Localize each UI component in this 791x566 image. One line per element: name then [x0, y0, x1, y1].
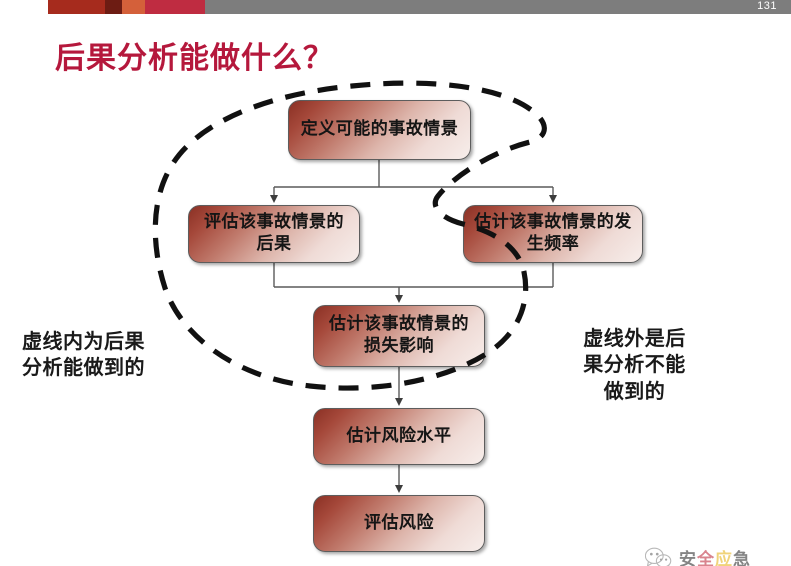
- wechat-watermark: 安全应急: [645, 545, 751, 566]
- flow-box-risk-label: 评估风险: [364, 513, 434, 535]
- flow-box-assess-label: 评估该事故情景的后果: [199, 212, 349, 256]
- flow-box-evaluate-risk[interactable]: 评估风险: [313, 495, 485, 552]
- topbar-segment-gap: [0, 0, 48, 14]
- top-decor-bar: 131: [0, 0, 791, 14]
- annotation-right-line-2: 果分析不能: [552, 351, 717, 377]
- wechat-icon: [645, 546, 672, 566]
- flow-box-loss-label: 估计该事故情景的损失影响: [324, 314, 474, 358]
- watermark-char-3: 应: [715, 550, 733, 566]
- annotation-left-line-1: 虚线内为后果: [22, 328, 192, 354]
- flow-box-assess-consequence[interactable]: 评估该事故情景的后果: [188, 205, 360, 263]
- flow-box-estimate-loss[interactable]: 估计该事故情景的损失影响: [313, 305, 485, 367]
- watermark-char-4: 急: [733, 550, 751, 566]
- watermark-text: 安全应急: [679, 545, 751, 566]
- topbar-segment-brick: [48, 0, 105, 14]
- slide-canvas: 131 后果分析能做什么？: [0, 0, 791, 566]
- slide-title: 后果分析能做什么？: [55, 33, 334, 77]
- annotation-right-line-1: 虚线外是后: [552, 325, 717, 351]
- flow-box-estimate-frequency[interactable]: 估计该事故情景的发生频率: [463, 205, 643, 263]
- flow-box-freq-label: 估计该事故情景的发生频率: [474, 212, 632, 256]
- annotation-outside-dashed: 虚线外是后 果分析不能 做到的: [552, 325, 717, 404]
- flow-box-define-label: 定义可能的事故情景: [301, 119, 459, 141]
- annotation-inside-dashed: 虚线内为后果 分析能做到的: [22, 328, 192, 381]
- topbar-segment-crimson: [145, 0, 205, 14]
- page-number: 131: [757, 0, 777, 13]
- annotation-left-line-2: 分析能做到的: [22, 354, 192, 380]
- flow-box-estimate-risk-level[interactable]: 估计风险水平: [313, 408, 485, 465]
- flow-connectors: [0, 0, 791, 566]
- annotation-right-line-3: 做到的: [552, 378, 717, 404]
- topbar-segment-gray: [205, 0, 791, 14]
- watermark-char-1: 安: [679, 550, 697, 566]
- flow-box-define[interactable]: 定义可能的事故情景: [288, 100, 471, 160]
- watermark-char-2: 全: [697, 550, 715, 566]
- dashed-scope-boundary: [0, 0, 791, 566]
- flow-box-level-label: 估计风险水平: [347, 426, 452, 448]
- topbar-segment-maroon: [105, 0, 122, 14]
- topbar-segment-orange: [122, 0, 145, 14]
